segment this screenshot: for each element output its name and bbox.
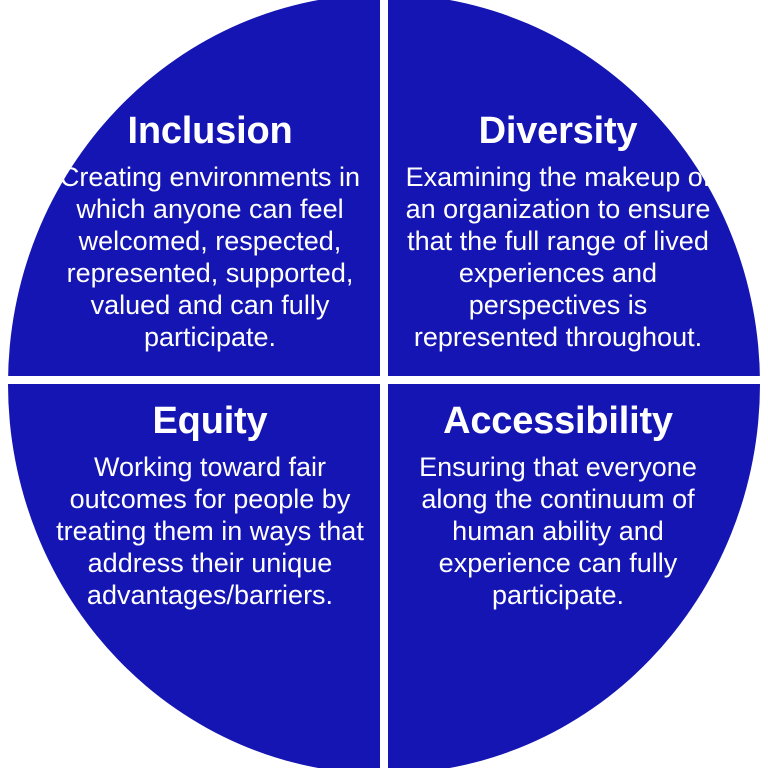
quadrant-inclusion: Inclusion Creating environments in which…	[40, 112, 380, 353]
quadrant-equity-body: Working toward fair outcomes for people …	[52, 451, 368, 611]
quadrant-equity-title: Equity	[52, 402, 368, 442]
quadrant-inclusion-body: Creating environments in which anyone ca…	[52, 161, 368, 353]
quadrant-diversity-title: Diversity	[400, 112, 716, 152]
quadrant-equity: Equity Working toward fair outcomes for …	[40, 402, 380, 611]
quadrant-diversity: Diversity Examining the makeup of an org…	[388, 112, 728, 353]
quadrant-accessibility-title: Accessibility	[400, 402, 716, 442]
horizontal-divider	[0, 376, 768, 384]
dei-circle-diagram: Inclusion Creating environments in which…	[0, 0, 768, 768]
quadrant-diversity-body: Examining the makeup of an organization …	[400, 161, 716, 353]
quadrant-accessibility: Accessibility Ensuring that everyone alo…	[388, 402, 728, 611]
quadrant-accessibility-body: Ensuring that everyone along the continu…	[400, 451, 716, 611]
quadrant-inclusion-title: Inclusion	[52, 112, 368, 152]
vertical-divider	[380, 0, 388, 768]
